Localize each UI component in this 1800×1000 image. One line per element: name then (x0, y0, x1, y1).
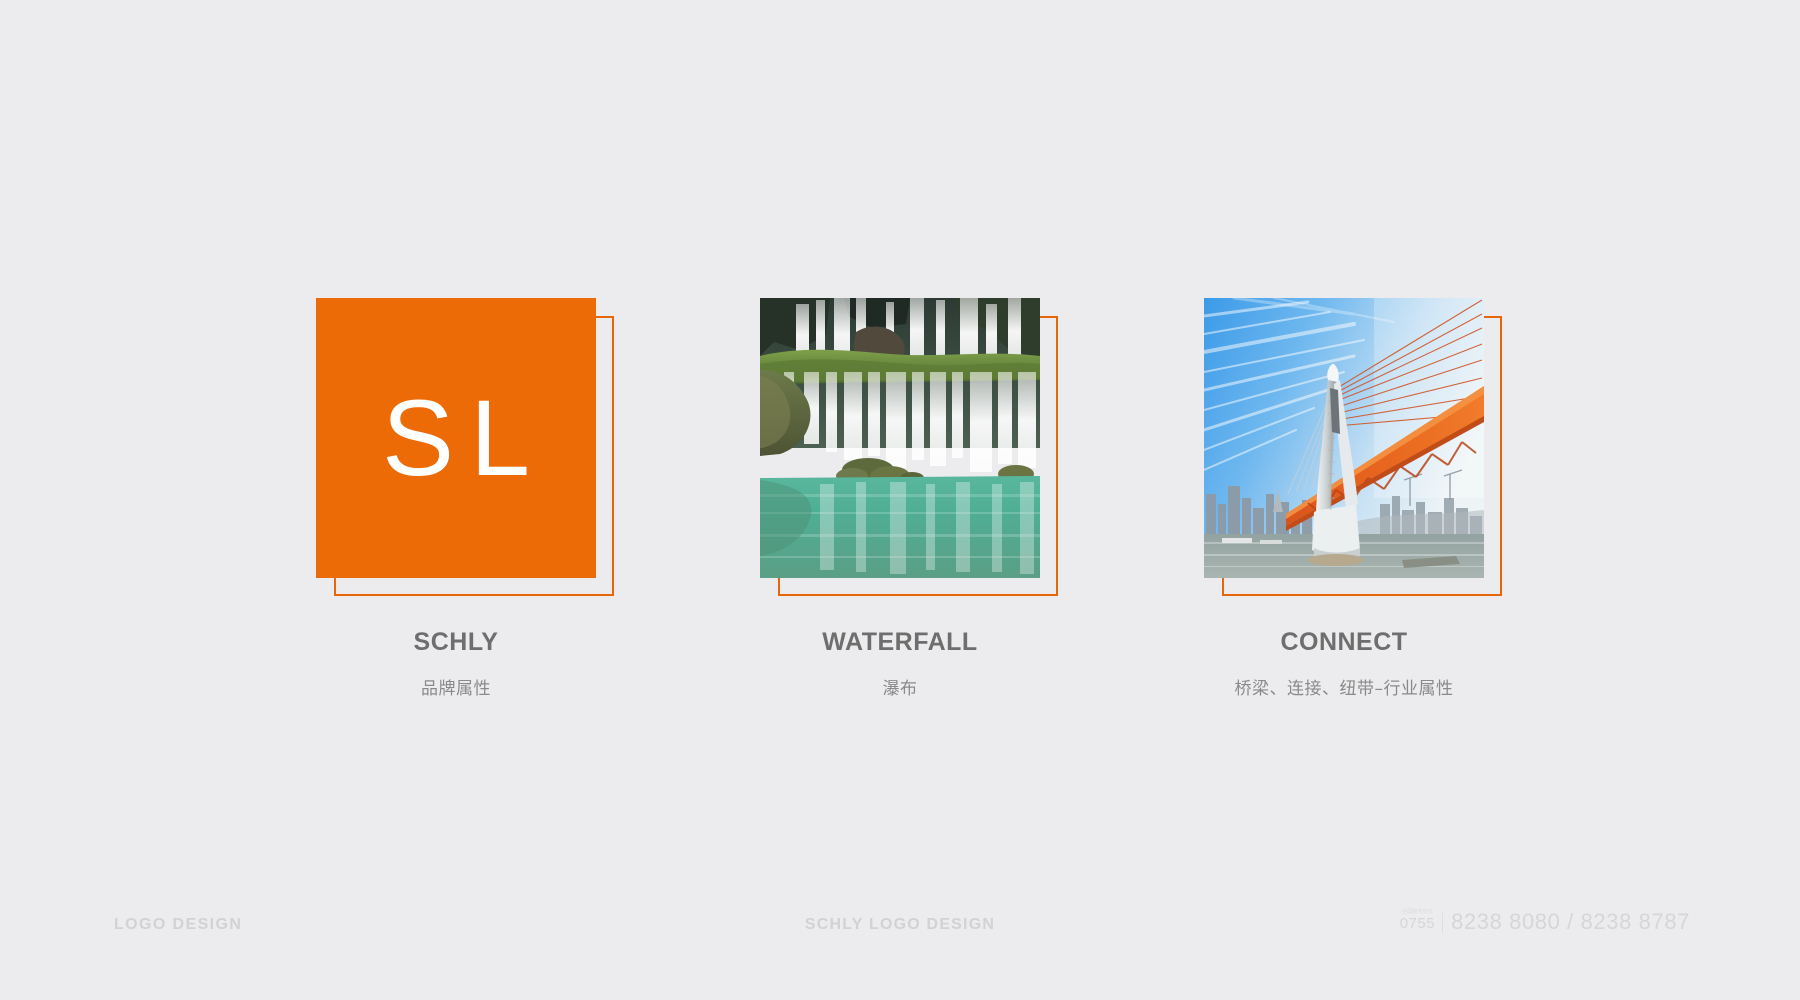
card-subtitle: 瀑布 (760, 674, 1040, 699)
waterfall-photo (760, 298, 1040, 578)
card-media (760, 298, 1040, 578)
footer-hotline: 全国服务热线 0755 8238 8080 / 8238 8787 (1400, 910, 1690, 933)
footer: LOGO DESIGN SCHLY LOGO DESIGN 全国服务热线 075… (0, 880, 1800, 1000)
hotline-divider (1442, 913, 1443, 933)
card-visual (1204, 298, 1484, 578)
card-subtitle: 品牌属性 (316, 674, 596, 699)
monogram-text: SL (366, 384, 546, 492)
card-media: SL (316, 298, 596, 578)
card-title: WATERFALL (760, 628, 1040, 657)
hotline-area-code: 0755 (1400, 916, 1435, 931)
hotline-code-block: 全国服务热线 0755 (1400, 910, 1435, 933)
card-media (1204, 298, 1484, 578)
card-title: SCHLY (316, 628, 596, 657)
card-visual (760, 298, 1040, 578)
monogram-tile: SL (316, 298, 596, 578)
card-waterfall[interactable]: WATERFALL 瀑布 (760, 298, 1040, 699)
bridge-photo (1204, 298, 1484, 578)
hotline-numbers: 8238 8080 / 8238 8787 (1451, 911, 1690, 933)
card-visual: SL (316, 298, 596, 578)
card-subtitle: 桥梁、连接、纽带–行业属性 (1204, 674, 1484, 699)
card-connect[interactable]: CONNECT 桥梁、连接、纽带–行业属性 (1204, 298, 1484, 699)
card-title: CONNECT (1204, 628, 1484, 657)
card-schly[interactable]: SL SCHLY 品牌属性 (316, 298, 596, 699)
cards-row: SL SCHLY 品牌属性 (0, 298, 1800, 699)
